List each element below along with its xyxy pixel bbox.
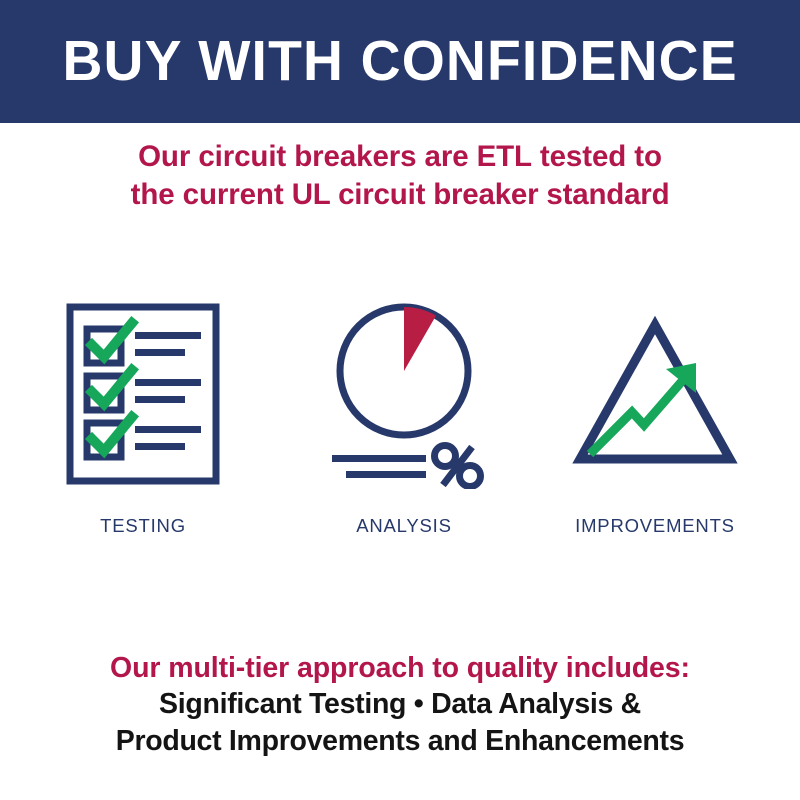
triangle-growth-arrow-icon (522, 296, 788, 492)
feature-item-analysis: ANALYSIS (271, 296, 537, 546)
subtitle-line-1-prefix: Our circuit breakers are (138, 140, 477, 173)
subtitle-emphasis-etl: ETL (477, 140, 532, 173)
page-title: BUY WITH CONFIDENCE (62, 33, 737, 90)
triangle-growth-arrow-svg (560, 299, 750, 489)
footer-body-line-2: Product Improvements and Enhancements (0, 723, 800, 760)
feature-label-improvements: IMPROVEMENTS (522, 515, 788, 537)
footer-body-line-1: Significant Testing • Data Analysis & (0, 686, 800, 723)
header-banner: BUY WITH CONFIDENCE (0, 0, 800, 123)
pie-chart-percent-icon (271, 296, 537, 492)
feature-label-testing: TESTING (10, 515, 276, 537)
subtitle-line-2: the current UL circuit breaker standard (0, 176, 800, 214)
subtitle-line-2-prefix: the current (131, 178, 292, 211)
percent-glyph (435, 446, 481, 487)
feature-icon-row: TESTING (0, 296, 800, 546)
subtitle-emphasis-ul-standard: UL circuit breaker standard (292, 178, 670, 211)
pie-chart-percent-svg (324, 299, 484, 489)
feature-item-testing: TESTING (10, 296, 276, 546)
footer-lead-line: Our multi-tier approach to quality inclu… (0, 650, 800, 686)
infographic-poster: BUY WITH CONFIDENCE Our circuit breakers… (0, 0, 800, 800)
checklist-clipboard-svg (63, 299, 223, 489)
footer-text-block: Our multi-tier approach to quality inclu… (0, 650, 800, 760)
feature-item-improvements: IMPROVEMENTS (522, 296, 788, 546)
feature-label-analysis: ANALYSIS (271, 515, 537, 537)
subtitle-line-1-suffix: tested to (532, 140, 662, 173)
subtitle-line-1: Our circuit breakers are ETL tested to (0, 138, 800, 176)
subtitle-text: Our circuit breakers are ETL tested to t… (0, 138, 800, 214)
checklist-clipboard-icon (10, 296, 276, 492)
